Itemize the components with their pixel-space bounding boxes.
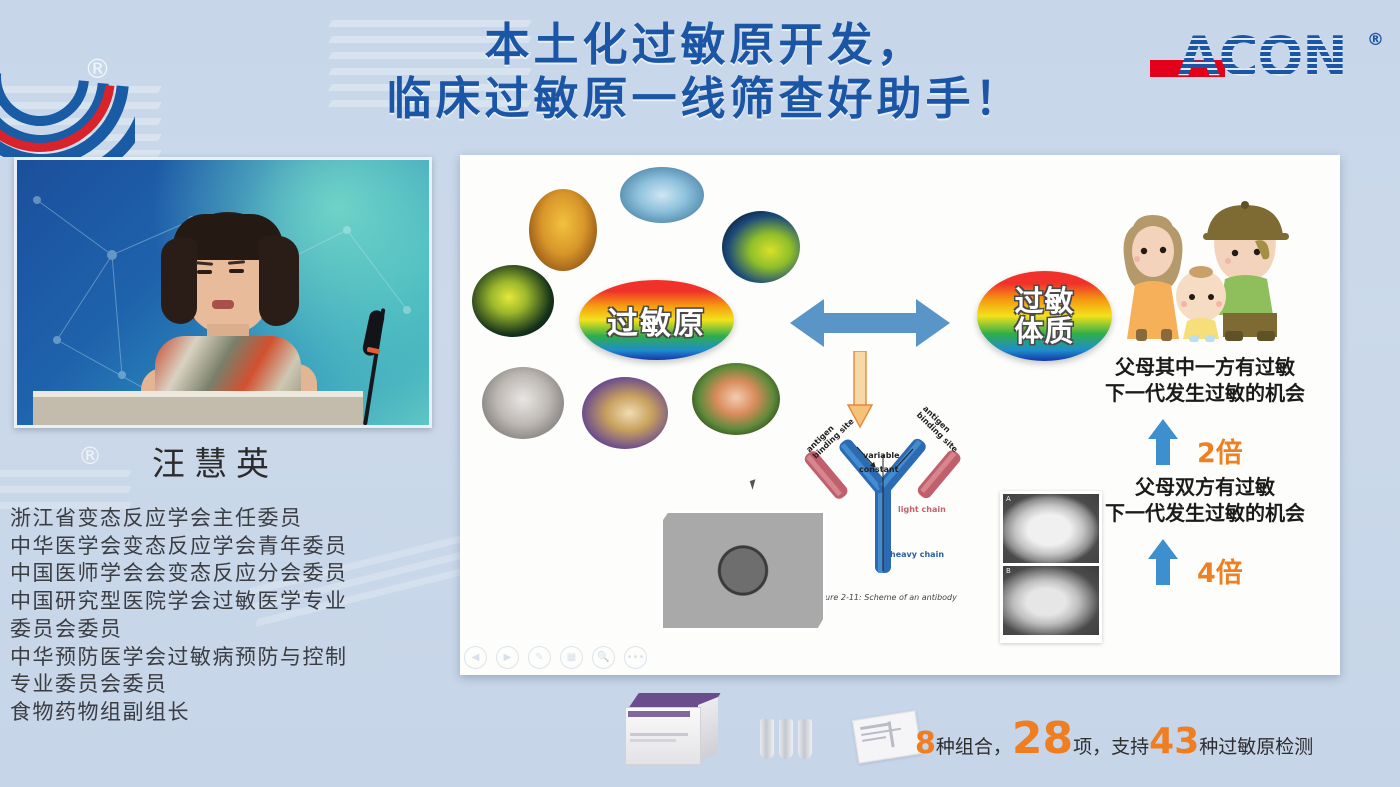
title-line-2: 临床过敏原一线筛查好助手！ (255, 72, 1155, 126)
combos-count: 8 (915, 726, 936, 761)
slide-canvas[interactable]: 过敏原 过敏 体质 (460, 155, 1340, 675)
items-count: 28 (1012, 721, 1073, 756)
constant-label: constant (859, 465, 898, 474)
mouse-cursor (750, 479, 758, 489)
allergen-mosquito-icon (620, 167, 704, 223)
bio-line: 中华预防医学会过敏病预防与控制 (10, 644, 450, 672)
one-parent-allergy-text: 父母其中一方有过敏 下一代发生过敏的机会 (1080, 355, 1330, 406)
up-arrow-icon-4x (1148, 539, 1178, 585)
pen-annotate-icon[interactable]: ✎ (528, 646, 551, 669)
allergic-constitution-oval: 过敏 体质 (977, 271, 1112, 361)
family-illustration-icon (1095, 193, 1305, 343)
both-parents-line-1: 父母双方有过敏 (1080, 475, 1330, 501)
variable-label: variable (863, 451, 900, 460)
sem-image-b: B (1003, 566, 1099, 635)
up-arrow-icon-2x (1148, 419, 1178, 465)
zoom-in-icon[interactable]: 🔍 (592, 646, 615, 669)
more-options-icon[interactable]: ••• (624, 646, 647, 669)
items-unit: 项，支持 (1073, 732, 1149, 759)
both-parents-allergy-text: 父母双方有过敏 下一代发生过敏的机会 (1080, 475, 1330, 526)
test-vials-image (760, 715, 830, 759)
test-cassette-image (852, 710, 922, 763)
one-parent-line-1: 父母其中一方有过敏 (1080, 355, 1330, 381)
next-slide-icon[interactable]: ▶ (496, 646, 519, 669)
allergens-count: 43 (1149, 721, 1199, 762)
mast-cell-tem-image (660, 510, 826, 631)
slide-controls[interactable]: ◀ ▶ ✎ ▦ 🔍 ••• (464, 646, 647, 669)
light-chain-label: light chain (898, 505, 946, 514)
oval-line-1: 过敏 (1014, 284, 1074, 318)
slide-grid-icon[interactable]: ▦ (560, 646, 583, 669)
allergens-unit: 种过敏原检测 (1199, 732, 1313, 759)
allergen-dust-mite-icon (529, 189, 597, 271)
presentation-screen: ® ® 本土化过敏原开发， 临床过敏原一线筛查好助手！ ACON ® (0, 0, 1400, 787)
speaker-video-feed[interactable] (14, 157, 432, 428)
title-line-1: 本土化过敏原开发， (255, 18, 1155, 72)
heavy-chain-label: heavy chain (890, 550, 944, 559)
promo-text: 8 种组合， 28 项，支持 43 种过敏原检测 (915, 721, 1313, 762)
oval-line-2: 体质 (1014, 314, 1074, 348)
product-strip: 8 种组合， 28 项，支持 43 种过敏原检测 (0, 687, 1400, 787)
bio-line: 中国研究型医院学会过敏医学专业 (10, 588, 450, 616)
allergen-pollen-spores-icon (472, 265, 554, 337)
previous-slide-icon[interactable]: ◀ (464, 646, 487, 669)
acon-wordmark: ACON (1178, 28, 1347, 86)
both-parents-multiplier: 4倍 (1197, 551, 1243, 590)
product-box-image (625, 693, 721, 765)
allergen-oval-label: 过敏原 (607, 298, 706, 343)
bio-line: 浙江省变态反应学会主任委员 (10, 505, 450, 533)
acon-registered-icon: ® (1367, 30, 1384, 50)
allergen-cat-dander-icon (482, 367, 564, 439)
allergic-constitution-label: 过敏 体质 (1014, 286, 1074, 347)
one-parent-multiplier: 2倍 (1197, 431, 1243, 470)
bio-line: 中国医师学会会变态反应分会委员 (10, 560, 450, 588)
header-banner: 本土化过敏原开发， 临床过敏原一线筛查好助手！ ACON ® (0, 0, 1400, 142)
combos-unit: 种组合， (936, 732, 1012, 759)
allergen-drugs-icon (582, 377, 668, 449)
page-title: 本土化过敏原开发， 临床过敏原一线筛查好助手！ (255, 18, 1155, 125)
allergen-oval: 过敏原 (579, 280, 734, 360)
bio-line: 中华医学会变态反应学会青年委员 (10, 533, 450, 561)
allergen-seafood-icon (692, 363, 780, 435)
acon-logo: ACON ® (1150, 28, 1380, 88)
allergen-grass-pollen-icon (722, 211, 800, 283)
bio-line: 委员会委员 (10, 616, 450, 644)
speaker-name: 汪慧英 (0, 437, 430, 485)
sem-label-b: B (1006, 567, 1011, 575)
sem-label-a: A (1006, 495, 1011, 503)
podium (33, 391, 363, 425)
double-arrow-icon (790, 295, 950, 351)
one-parent-line-2: 下一代发生过敏的机会 (1080, 381, 1330, 407)
both-parents-line-2: 下一代发生过敏的机会 (1080, 501, 1330, 527)
